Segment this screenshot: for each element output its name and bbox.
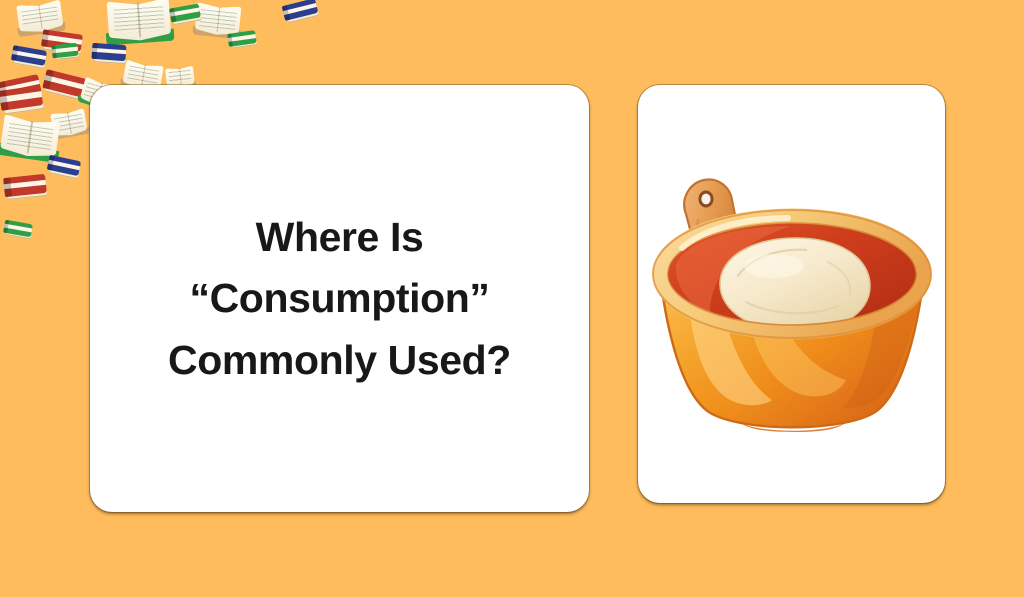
book-closed-19 [3, 174, 47, 197]
book-open-0 [16, 1, 63, 33]
image-card [638, 85, 945, 503]
book-closed-3 [282, 0, 319, 21]
book-closed-14 [0, 85, 43, 111]
book-closed-13 [42, 69, 87, 98]
book-closed-7 [11, 45, 47, 66]
book-open-17 [0, 116, 60, 157]
book-closed-9 [91, 43, 126, 61]
book-closed-18 [47, 155, 81, 176]
book-open-1 [107, 0, 171, 40]
book-closed-6 [0, 74, 41, 100]
mixing-bowl [653, 210, 931, 432]
dough-ball [720, 238, 870, 332]
book-open-4 [195, 4, 242, 35]
book-closed-2 [41, 29, 83, 51]
question-card: Where Is “Consumption” Commonly Used? [90, 85, 589, 512]
book-closed-20 [3, 220, 33, 238]
book-closed-5 [169, 4, 201, 23]
question-line-2: “Consumption” [116, 268, 563, 330]
book-open-16 [50, 109, 87, 137]
question-line-1: Where Is [116, 206, 563, 268]
mixing-bowl-with-dough-icon [642, 144, 942, 444]
question-title: Where Is “Consumption” Commonly Used? [90, 206, 589, 391]
book-closed-8 [51, 43, 78, 59]
slide-canvas: Where Is “Consumption” Commonly Used? [0, 0, 1024, 597]
question-line-3: Commonly Used? [116, 329, 563, 391]
book-closed-10 [227, 30, 257, 47]
